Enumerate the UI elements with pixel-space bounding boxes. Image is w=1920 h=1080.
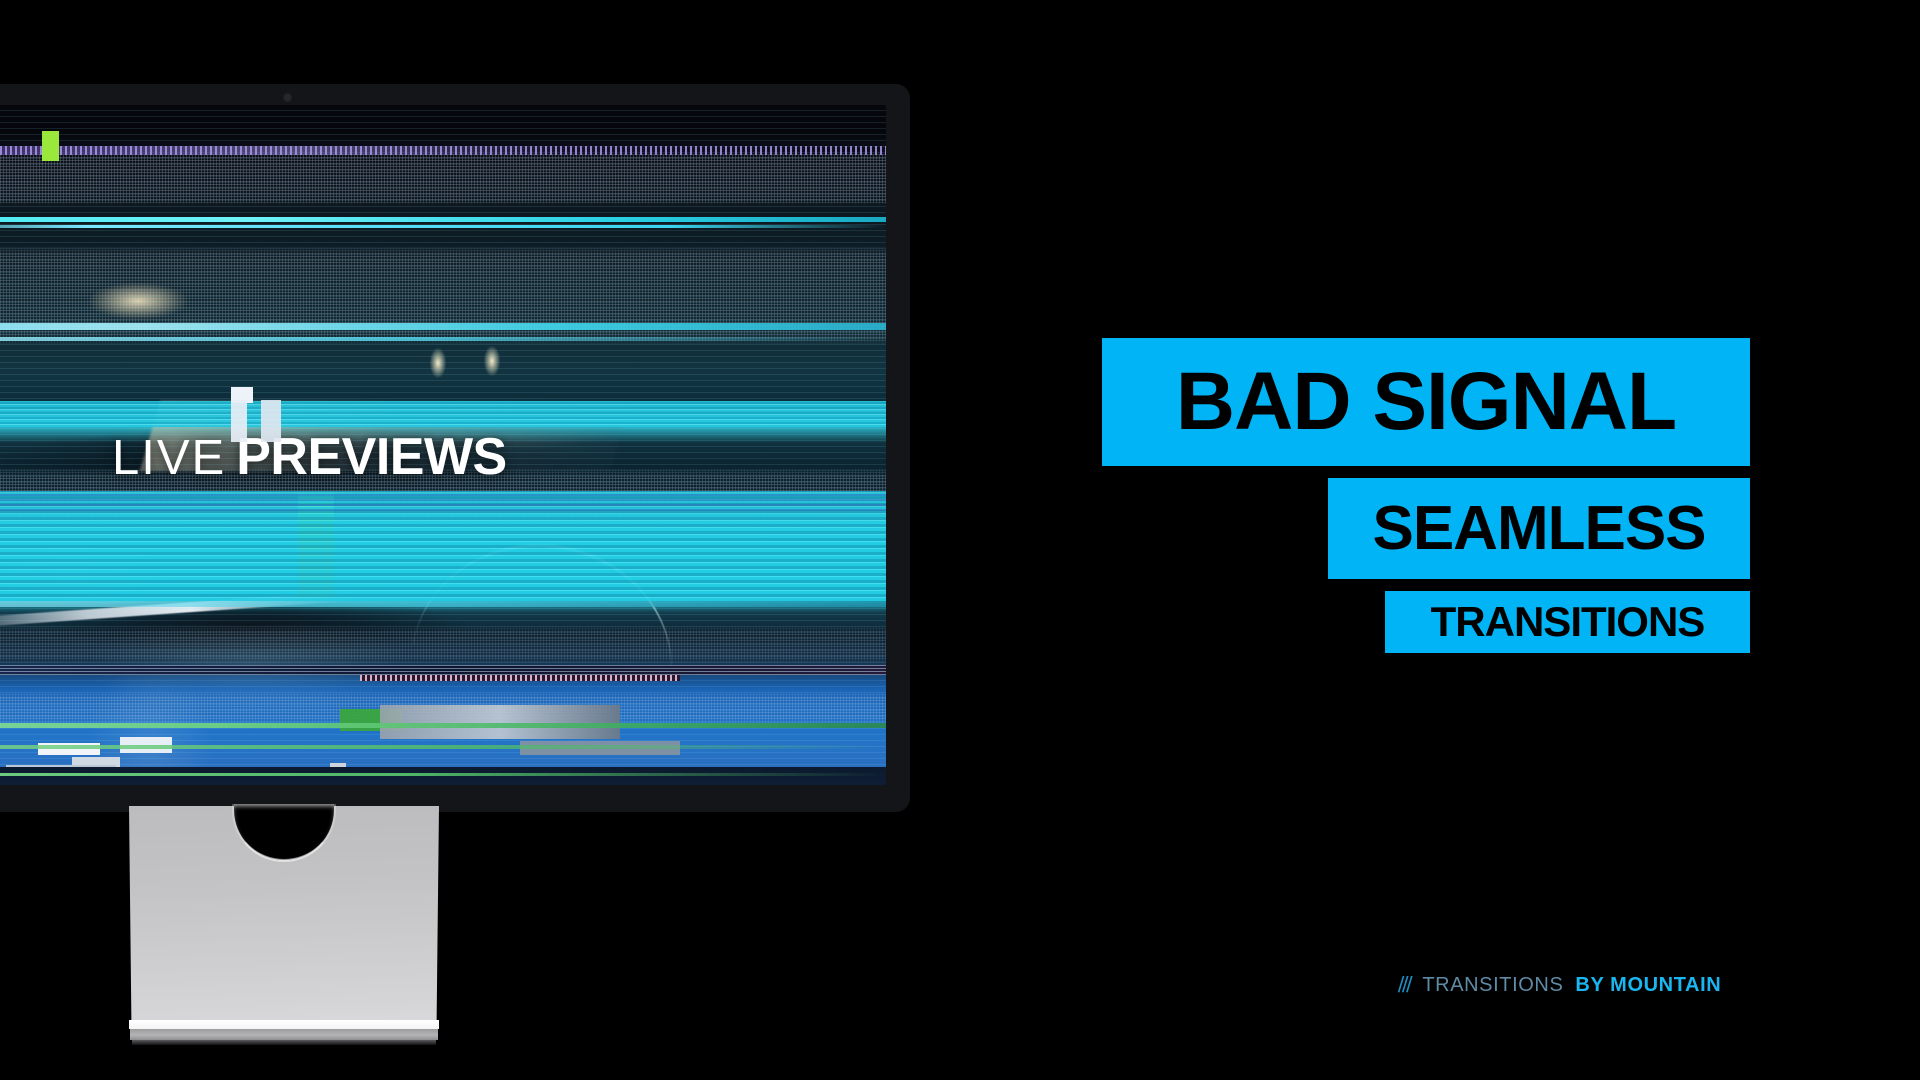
webcam-icon	[284, 94, 291, 101]
glitch-rip-band	[0, 217, 886, 222]
glitch-rip-band	[0, 401, 886, 427]
glitch-block	[380, 705, 620, 739]
glitch-green-artifact	[42, 131, 59, 161]
title-block-label: SEAMLESS	[1372, 498, 1705, 560]
branding-primary: TRANSITIONS	[1422, 974, 1563, 997]
branding: /// TRANSITIONS BY MOUNTAIN	[1398, 972, 1721, 998]
triple-slash-icon: ///	[1398, 972, 1411, 998]
monitor-screen: LIVE PREVIEWS	[0, 105, 886, 785]
screen-headline-light: LIVE	[112, 430, 226, 486]
desktop-monitor: LIVE PREVIEWS	[0, 84, 910, 812]
glitch-text-artifact	[231, 400, 297, 442]
title-block-bad-signal: BAD SIGNAL	[1102, 338, 1750, 466]
monitor-stand	[129, 806, 439, 1048]
title-block-label: TRANSITIONS	[1431, 601, 1705, 643]
stand-foot	[130, 1029, 438, 1040]
glitch-rip-band	[0, 723, 886, 728]
title-block-seamless: SEAMLESS	[1328, 478, 1750, 579]
glitch-rip-band	[0, 225, 886, 228]
glitch-purple-strip	[0, 146, 886, 155]
title-block-transitions: TRANSITIONS	[1385, 591, 1750, 653]
stand-highlight	[129, 1020, 439, 1029]
glitch-rip-band	[0, 665, 886, 675]
stand-shadow	[132, 1040, 436, 1045]
glitch-rip-band	[0, 493, 886, 511]
title-block-label: BAD SIGNAL	[1176, 361, 1676, 443]
poster-canvas: LIVE PREVIEWS BAD SIGNAL SEAMLESS TRANSI…	[0, 0, 1920, 1080]
glitch-rip-band	[0, 601, 886, 607]
glitch-rip-band	[0, 323, 886, 330]
glitch-rip-band	[0, 773, 886, 776]
screen-headline: LIVE PREVIEWS	[112, 427, 507, 487]
glitch-rip-band	[0, 745, 886, 749]
branding-secondary: BY MOUNTAIN	[1575, 974, 1721, 997]
glitch-rip-band	[0, 767, 886, 785]
glitch-rip-band	[0, 337, 886, 341]
